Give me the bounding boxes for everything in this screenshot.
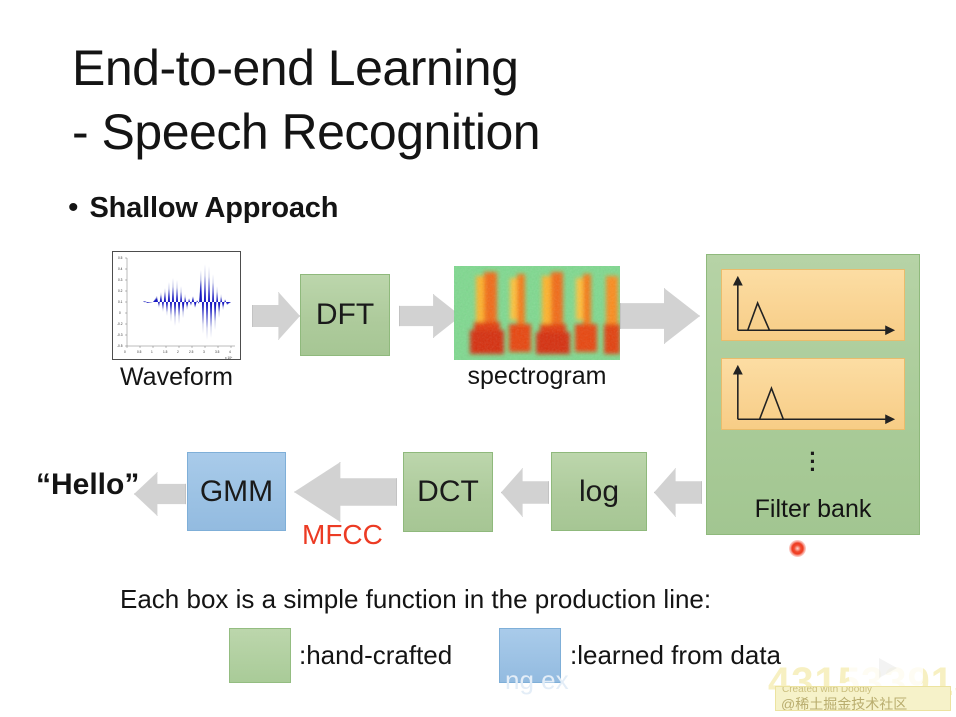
arrow-log-to-dct — [501, 468, 549, 517]
filter-bank-label: Filter bank — [707, 495, 919, 524]
box-filter-bank[interactable]: ··· Filter bank — [706, 254, 920, 535]
svg-text:-0.3: -0.3 — [117, 333, 123, 337]
slide-canvas: End-to-end Learning - Speech Recognition… — [0, 0, 956, 717]
box-log[interactable]: log — [551, 452, 647, 531]
spectrogram-image — [454, 266, 620, 360]
arrow-filterbank-to-log — [654, 468, 702, 517]
arrow-dft-to-spectrogram — [399, 294, 461, 338]
filter-bank-ellipsis-icon: ··· — [707, 450, 919, 474]
svg-text:3: 3 — [203, 350, 205, 354]
svg-text:0.4: 0.4 — [118, 267, 123, 271]
tv-logo-svg — [843, 628, 929, 690]
box-dft[interactable]: DFT — [300, 274, 390, 356]
svg-text:-0.2: -0.2 — [117, 322, 123, 326]
watermark-badge-line2: @稀土掘金技术社区 — [781, 694, 907, 711]
svg-text:1: 1 — [151, 350, 153, 354]
footer-caption: Each box is a simple function in the pro… — [120, 584, 711, 615]
svg-text:-0.5: -0.5 — [117, 344, 123, 348]
ghost-text-fragment: ng ex — [505, 665, 569, 696]
arrow-dct-to-gmm — [294, 462, 397, 522]
bullet-label: Shallow Approach — [90, 192, 339, 225]
watermark-badge: Created with Doodly @稀土掘金技术社区 — [775, 686, 951, 711]
legend-label-hand-crafted: :hand-crafted — [299, 640, 452, 671]
svg-text:0.1: 0.1 — [118, 300, 123, 304]
page-title: End-to-end Learning - Speech Recognition — [72, 36, 540, 164]
svg-text:0.3: 0.3 — [118, 278, 123, 282]
svg-text:3.5: 3.5 — [215, 350, 220, 354]
svg-text:0: 0 — [124, 350, 126, 354]
video-player-logo-icon — [843, 628, 929, 690]
arrow-gmm-to-hello — [134, 472, 186, 516]
svg-text:0: 0 — [119, 311, 121, 315]
output-hello-label: “Hello” — [36, 468, 139, 502]
filter-plot-2-svg — [722, 359, 904, 429]
arrow-waveform-to-dft — [252, 292, 300, 340]
svg-text:0.5: 0.5 — [137, 350, 142, 354]
svg-text:1.5: 1.5 — [163, 350, 168, 354]
filter-plot-2 — [721, 358, 905, 430]
bullet-marker-icon: • — [68, 193, 79, 223]
spectrogram-caption: spectrogram — [444, 362, 630, 391]
box-gmm[interactable]: GMM — [187, 452, 286, 531]
legend-label-learned: :learned from data — [570, 640, 781, 671]
svg-text:2.5: 2.5 — [189, 350, 194, 354]
box-dct[interactable]: DCT — [403, 452, 493, 532]
arrow-spectrogram-to-filterbank — [620, 288, 700, 344]
bullet-shallow-approach: • Shallow Approach — [68, 192, 338, 225]
filter-plot-1-svg — [722, 270, 904, 340]
svg-text:x 10⁴: x 10⁴ — [225, 356, 233, 360]
svg-text:0.5: 0.5 — [118, 256, 123, 260]
legend-swatch-hand-crafted — [229, 628, 291, 683]
mfcc-label: MFCC — [302, 519, 383, 551]
waveform-caption: Waveform — [112, 363, 241, 392]
svg-text:2: 2 — [177, 350, 179, 354]
spectrogram-svg — [454, 266, 620, 360]
waveform-plot: 0.50.40.3 0.20.10 -0.2-0.3-0.5 00.51 1.5… — [112, 251, 241, 360]
svg-text:4: 4 — [229, 350, 231, 354]
filter-plot-1 — [721, 269, 905, 341]
laser-pointer-dot — [789, 540, 806, 557]
waveform-svg: 0.50.40.3 0.20.10 -0.2-0.3-0.5 00.51 1.5… — [113, 252, 242, 361]
svg-text:0.2: 0.2 — [118, 289, 123, 293]
